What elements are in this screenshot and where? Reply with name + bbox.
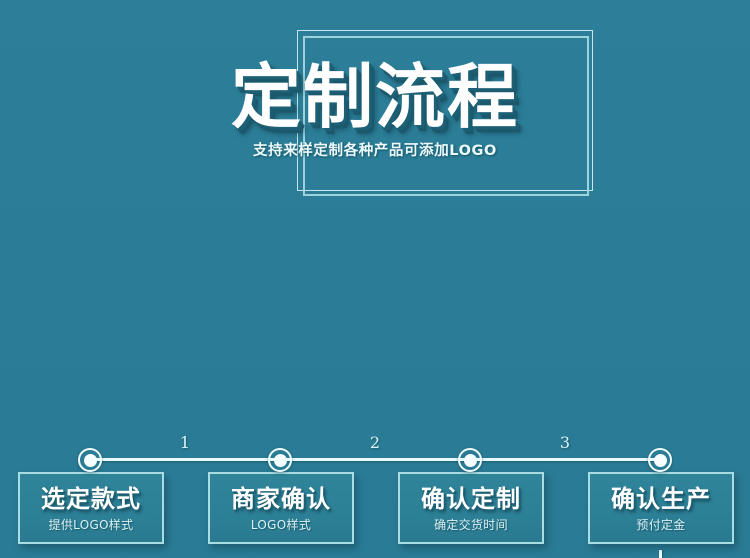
- step-node-1: [78, 448, 102, 472]
- step-node-3: [458, 448, 482, 472]
- connector-line-row1: [90, 458, 660, 461]
- connector-number-1: 1: [165, 435, 205, 451]
- step-card-1[interactable]: 选定款式 提供LOGO样式: [18, 472, 164, 544]
- step-card-3[interactable]: 确认定制 确定交货时间: [398, 472, 544, 544]
- connector-number-2: 2: [355, 435, 395, 451]
- flow-diagram: 1 2 3 4 选定款式 提供LOGO样式 商家确认 LOGO样式 确认定制 确…: [0, 210, 750, 558]
- page-title: 定制流程: [0, 58, 750, 136]
- step-card-4-title: 确认生产: [611, 486, 711, 513]
- step-card-2-subtitle: LOGO样式: [251, 518, 311, 532]
- step-card-3-title: 确认定制: [421, 486, 521, 513]
- connector-number-3: 3: [545, 435, 585, 451]
- step-card-1-subtitle: 提供LOGO样式: [49, 518, 134, 532]
- step-node-4: [648, 448, 672, 472]
- step-card-2-title: 商家确认: [231, 486, 331, 513]
- step-card-2[interactable]: 商家确认 LOGO样式: [208, 472, 354, 544]
- step-card-3-subtitle: 确定交货时间: [434, 518, 508, 532]
- step-node-2: [268, 448, 292, 472]
- page-subtitle: 支持来样定制各种产品可添加LOGO: [0, 142, 750, 160]
- customization-flow-infographic: 定制流程 支持来样定制各种产品可添加LOGO 1 2 3 4 选定款式 提供LO…: [0, 0, 750, 558]
- step-card-4-subtitle: 预付定金: [636, 518, 685, 532]
- step-card-4[interactable]: 确认生产 预付定金: [588, 472, 734, 544]
- title-block: 定制流程 支持来样定制各种产品可添加LOGO: [0, 58, 750, 160]
- step-card-1-title: 选定款式: [41, 486, 141, 513]
- header-section: 定制流程 支持来样定制各种产品可添加LOGO: [0, 0, 750, 210]
- connector-line-vertical: [659, 550, 662, 558]
